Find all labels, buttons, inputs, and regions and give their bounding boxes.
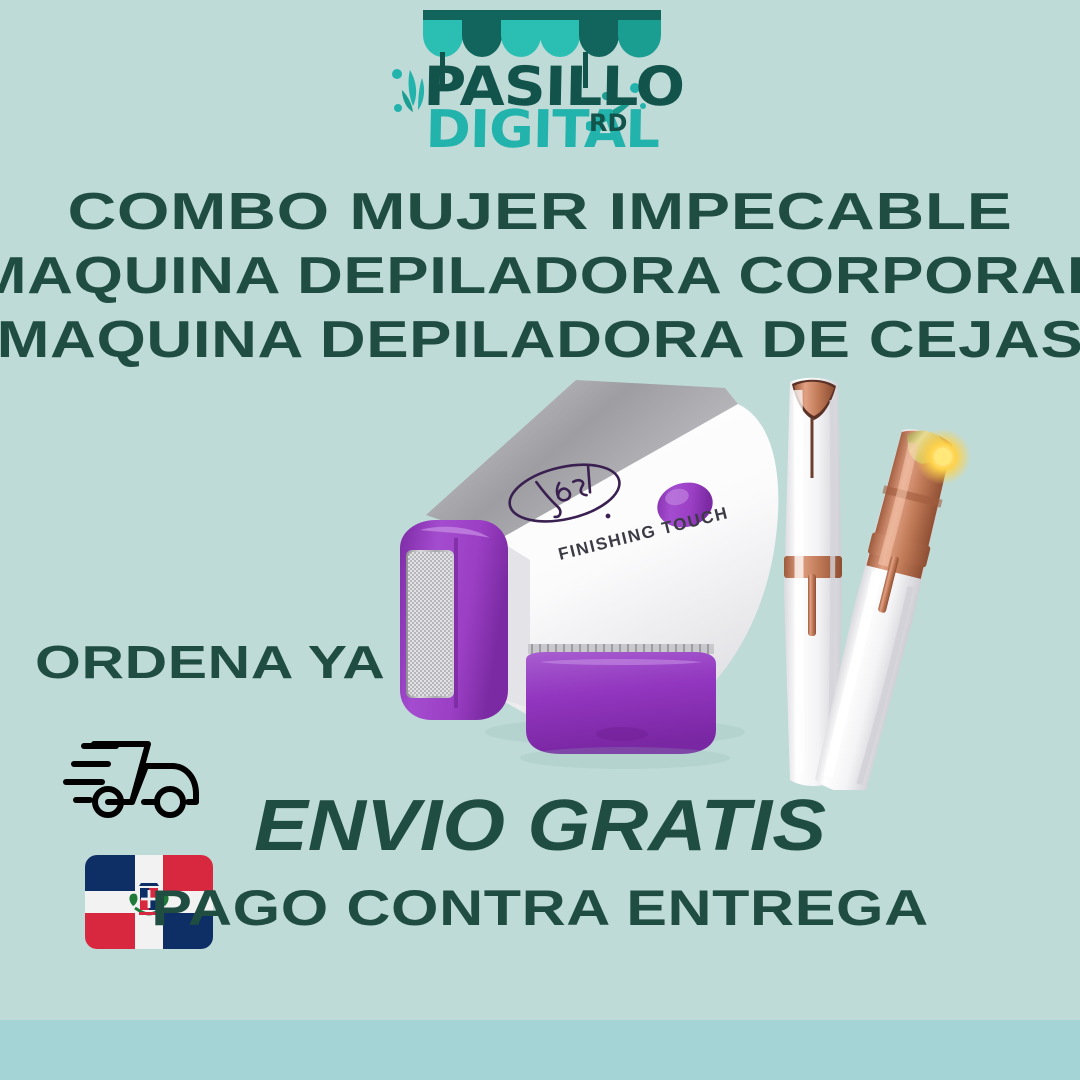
promo-canvas: PASILLO DIGITAL RD COMBO MUJER IMPECABLE… (0, 0, 1080, 1080)
cash-on-delivery-text: PAGO CONTRA ENTREGA (0, 883, 1080, 933)
headline-line-1: COMBO MUJER IMPECABLE (0, 186, 1080, 238)
logo-word-rd: RD (589, 111, 627, 135)
brand-logo: PASILLO DIGITAL RD (380, 4, 700, 172)
order-now-text: ORDENA YA (35, 635, 385, 689)
bottom-band (0, 1020, 1080, 1080)
free-shipping-text: ENVIO GRATIS (0, 790, 1080, 862)
product-photo: FINISHING TOUCH (380, 360, 970, 790)
epilator-spare-head (520, 644, 730, 769)
headline-line-2: MAQUINA DEPILADORA CORPORAL (0, 250, 1080, 302)
headline-line-3: MAQUINA DEPILADORA DE CEJAS (0, 314, 1080, 366)
